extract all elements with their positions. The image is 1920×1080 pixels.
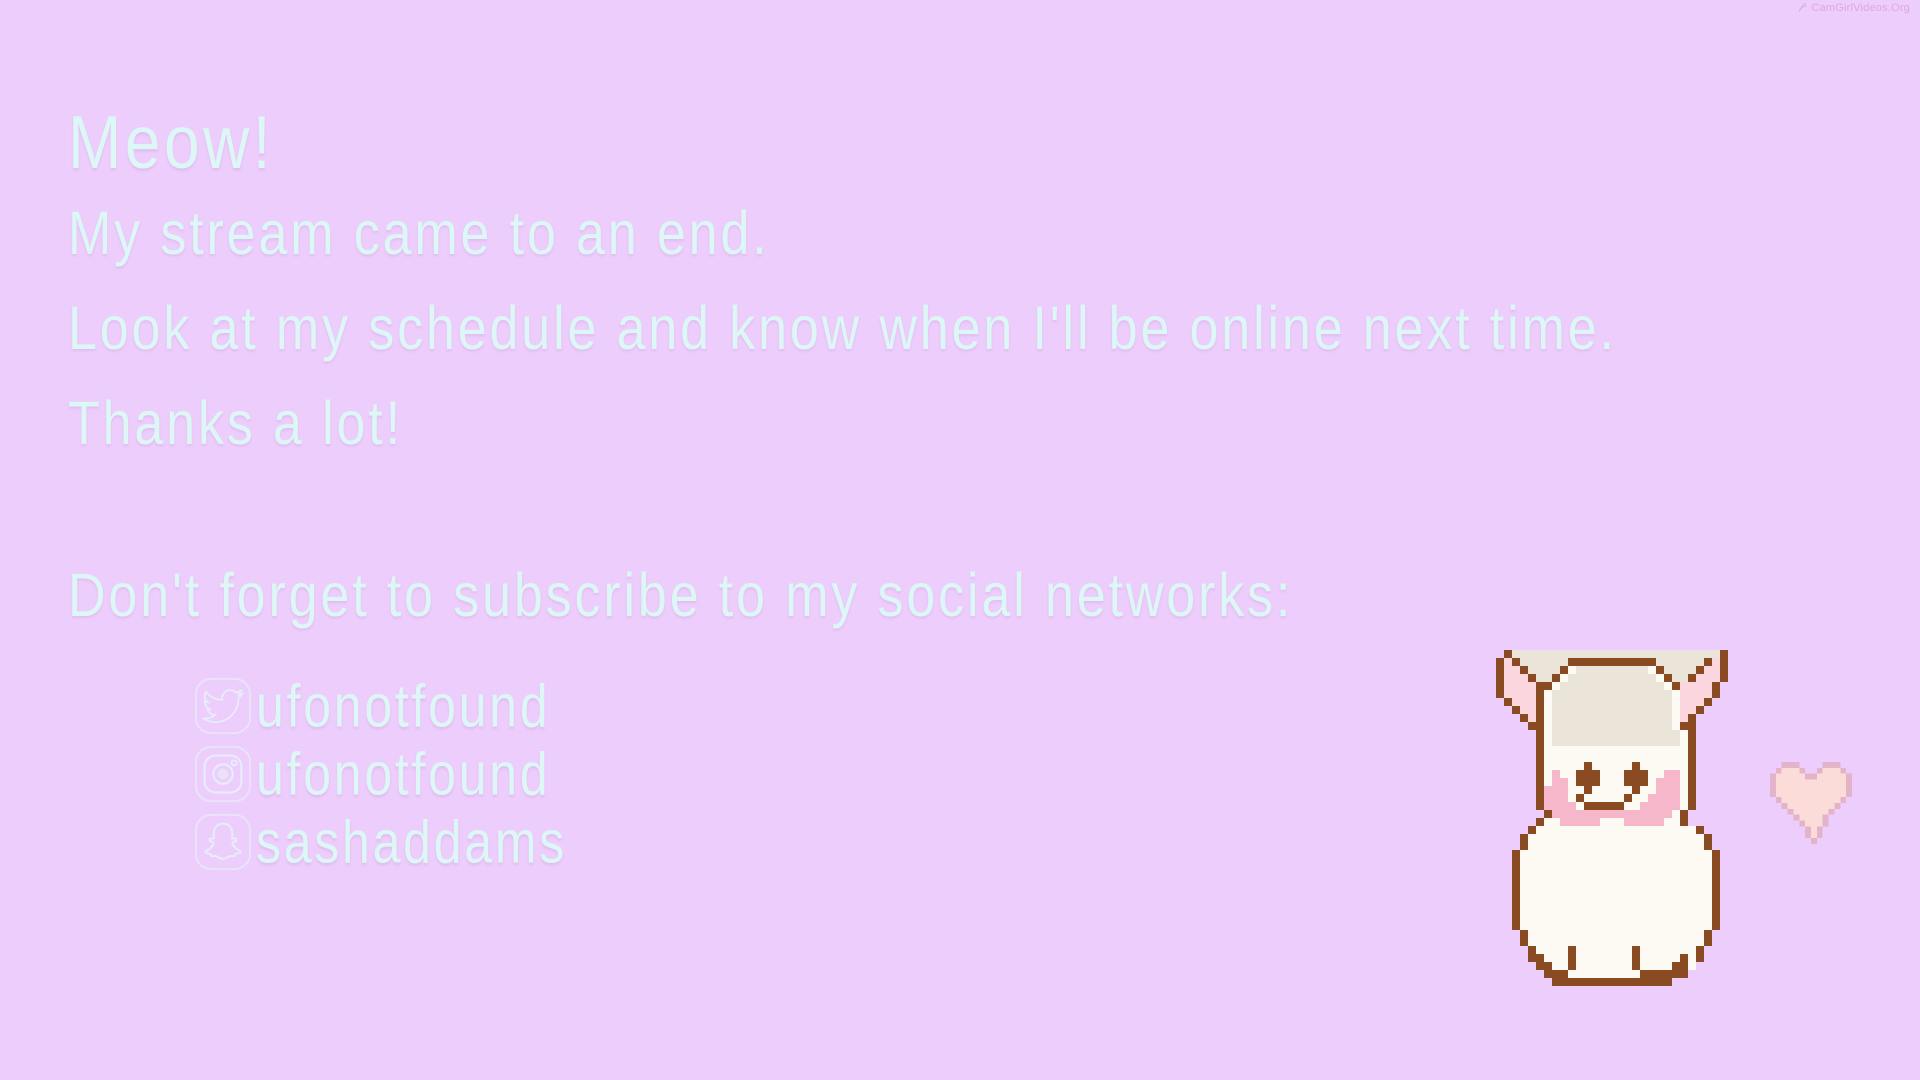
social-links-list: ufonotfound ufonotfound sashaddams [192,672,567,876]
snapchat-icon[interactable] [192,811,254,873]
watermark: CamGirlVideos.Org [1797,2,1910,14]
social-row-snapchat[interactable]: sashaddams [192,808,567,876]
social-row-instagram[interactable]: ufonotfound [192,740,567,808]
message-line-2: Look at my schedule and know when I'll b… [68,291,1617,367]
camgirl-logo-icon [1797,3,1808,14]
message-line-3: Thanks a lot! [68,386,403,462]
watermark-text: CamGirlVideos.Org [1811,2,1910,14]
pixel-heart-illustration [1770,762,1852,844]
call-to-action: Don't forget to subscribe to my social n… [68,558,1293,634]
pixel-cat-illustration [1488,650,1736,1010]
instagram-icon[interactable] [192,743,254,805]
social-handle-twitter[interactable]: ufonotfound [256,675,550,737]
social-handle-snapchat[interactable]: sashaddams [256,811,567,873]
page-title: Meow! [68,96,274,188]
message-line-1: My stream came to an end. [68,196,770,272]
social-row-twitter[interactable]: ufonotfound [192,672,567,740]
twitter-icon[interactable] [192,675,254,737]
social-handle-instagram[interactable]: ufonotfound [256,743,550,805]
